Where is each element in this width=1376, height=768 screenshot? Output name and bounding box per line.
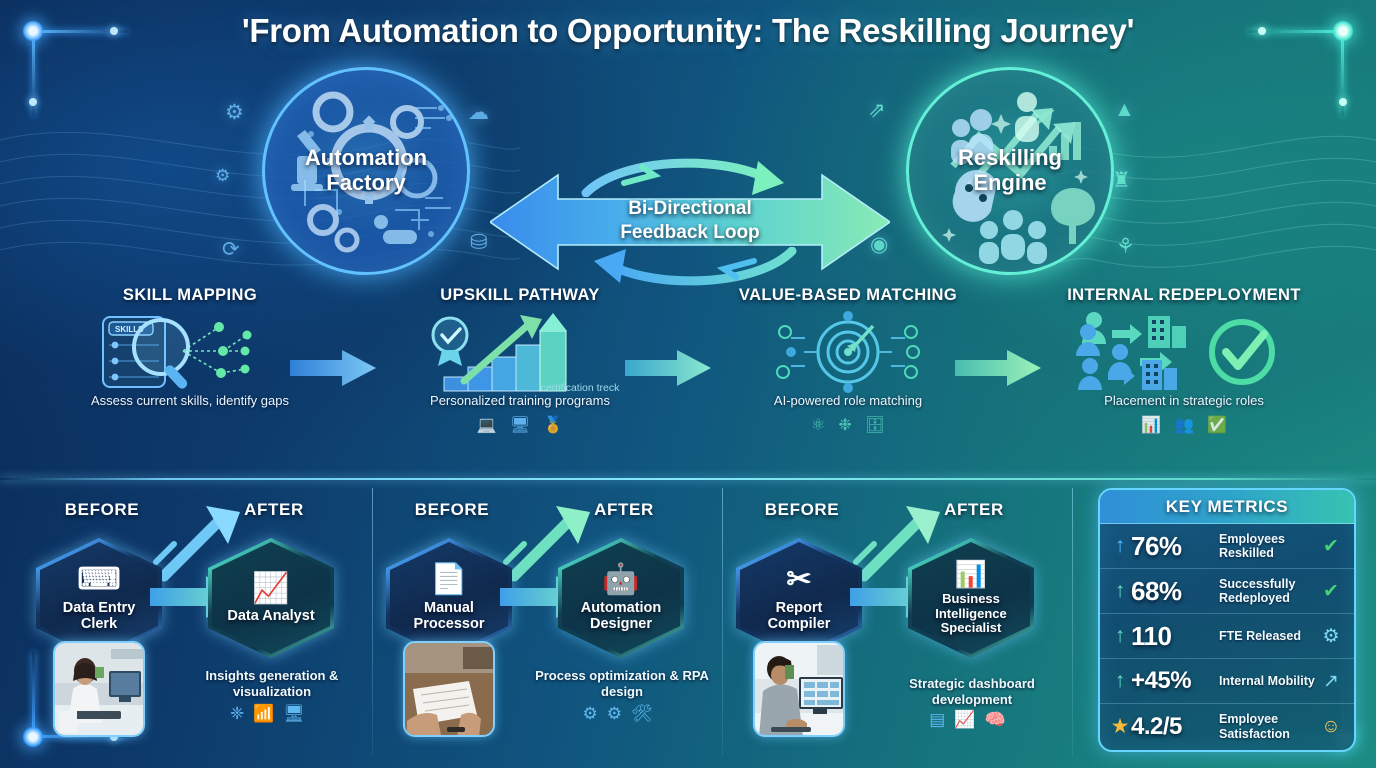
gear-network-icon: ⚙ <box>225 100 244 125</box>
process-flow-section: SKILL MAPPING SKILLS Assess <box>0 286 1376 476</box>
man-at-desk-with-monitor-photo <box>753 641 845 737</box>
check-circle-icon: ✅ <box>1207 415 1227 435</box>
metric-row[interactable]: ↑ 110 FTE Released ⚙ <box>1100 614 1354 659</box>
feedback-line1: Bi-Directional <box>490 197 890 221</box>
automation-factory-line1: Automation <box>305 146 427 171</box>
hands-with-paper-documents-photo <box>403 641 495 737</box>
bidirectional-feedback-label: Bi-Directional Feedback Loop <box>490 197 890 245</box>
before-role-hex[interactable]: 📄 Manual Processor <box>386 538 512 658</box>
gear-arrow-up-icon: ⚙ <box>1317 625 1345 648</box>
ai-chip-icon: ⚛ <box>811 415 825 435</box>
metric-row[interactable]: ↑ +45% Internal Mobility ↗ <box>1100 659 1354 704</box>
gear-icon: ⚙ <box>582 704 606 723</box>
stage-icon-row: 💻 🖥 🏅 <box>370 415 670 435</box>
page-title: 'From Automation to Opportunity: The Res… <box>0 12 1376 50</box>
metric-row[interactable]: ↑ 76% Employees Reskilled ✔ <box>1100 524 1354 569</box>
robot-flowchart-icon: 🤖 <box>602 563 639 597</box>
infographic-canvas: 'From Automation to Opportunity: The Res… <box>0 0 1376 768</box>
panel-divider-3 <box>1072 488 1073 756</box>
key-metrics-panel: KEY METRICS ↑ 76% Employees Reskilled ✔ … <box>1098 488 1356 752</box>
woman-at-desk-typing-photo <box>53 641 145 737</box>
hero-section: Automation Factory <box>0 62 1376 280</box>
ai-target-network-art <box>698 311 998 393</box>
sitemap-icon: ⛁ <box>470 230 488 255</box>
reskilling-engine-label: Reskilling Engine <box>958 146 1062 195</box>
certificate-badge-icon: 🏅 <box>543 415 563 435</box>
section-divider-horizontal <box>0 478 1376 480</box>
process-stage-internal-redeployment[interactable]: INTERNAL REDEPLOYMENT <box>1034 286 1334 435</box>
stage-description: Placement in strategic roles <box>1034 393 1334 409</box>
growth-chart-icon: 📊 <box>1141 415 1161 435</box>
metric-value: 110 <box>1131 621 1219 652</box>
before-role-label: Manual Processor <box>390 600 508 632</box>
scissors-paper-icon: ✂ <box>786 563 811 597</box>
after-icon-row: ❈📶🖥 <box>182 704 362 724</box>
node-graph-icon: ❈ <box>230 704 253 723</box>
up-arrow-icon: ↑ <box>1109 534 1131 558</box>
handshake-icon: ♜ <box>1112 168 1131 193</box>
before-role-label: Report Compiler <box>740 600 858 632</box>
people-to-building-checkmark-art <box>1034 311 1334 393</box>
metric-value: 4.2/5 <box>1131 713 1219 741</box>
stage-title: SKILL MAPPING <box>40 286 340 305</box>
up-arrow-icon: ↑ <box>1109 579 1131 603</box>
dashboard-monitor-icon: 🖥 <box>283 704 314 723</box>
chart-rise-icon: 📈 <box>954 710 984 729</box>
person-rising-icon: ↗ <box>1317 670 1345 693</box>
refresh-cycle-icon: ⟳ <box>222 237 240 262</box>
data-table-icon: ▤ <box>929 710 954 729</box>
transformation-panel-3: BEFORE AFTER ✂ Report Compiler 📊 Busines… <box>722 486 1072 764</box>
tools-wrench-screwdriver-icon: 🛠 <box>631 704 662 723</box>
reskilling-engine-circle: Reskilling Engine <box>906 67 1114 275</box>
smiley-face-icon: ☺ <box>1317 716 1345 738</box>
after-role-label: Data Analyst <box>221 608 320 624</box>
key-metrics-title: KEY METRICS <box>1100 490 1354 524</box>
growth-chart-icon: 📶 <box>253 704 283 723</box>
bidirectional-feedback-arrow: Bi-Directional Feedback Loop <box>490 165 890 280</box>
after-description: Strategic dashboard development <box>882 676 1062 707</box>
metric-label: Internal Mobility <box>1219 674 1317 688</box>
metric-label: Employee Satisfaction <box>1219 712 1317 741</box>
automation-factory-label: Automation Factory <box>305 146 427 195</box>
after-role-hex[interactable]: 📈 Data Analyst <box>208 538 334 658</box>
metric-value: 68% <box>1131 576 1219 607</box>
metric-row[interactable]: ↑ 68% Successfully Redeployed ✔ <box>1100 569 1354 614</box>
star-icon: ★ <box>1109 714 1131 739</box>
before-role-hex[interactable]: ⌨ Data Entry Clerk <box>36 538 162 658</box>
after-role-hex[interactable]: 🤖 Automation Designer <box>558 538 684 658</box>
metric-value: 76% <box>1131 531 1219 562</box>
metric-label: Employees Reskilled <box>1219 532 1317 561</box>
metric-row[interactable]: ★ 4.2/5 Employee Satisfaction ☺ <box>1100 704 1354 749</box>
metric-label: FTE Released <box>1219 629 1317 643</box>
cloud-gear-icon: ☁ <box>468 100 489 125</box>
transformation-panel-2: BEFORE AFTER 📄 Manual Processor 🤖 Automa… <box>372 486 722 764</box>
check-circle-green-icon: ✔ <box>1317 535 1345 558</box>
certification-track-caption: certification treck <box>520 382 640 394</box>
database-search-icon: 🗄 <box>865 415 885 435</box>
process-chevron-3 <box>955 348 1041 388</box>
reskilling-engine-line1: Reskilling <box>958 146 1062 171</box>
stage-description: Personalized training programs <box>370 393 670 409</box>
people-growth-icon: ⇗ <box>868 98 886 123</box>
dashboard-screen-icon: 📊 <box>955 560 987 589</box>
automation-factory-circle: Automation Factory <box>262 67 470 275</box>
process-stage-value-based-matching[interactable]: VALUE-BASED MATCHING <box>698 286 998 435</box>
after-icon-row: ▤📈🧠 <box>882 710 1062 730</box>
after-description: Insights generation & visualization <box>182 668 362 699</box>
up-arrow-icon: ↑ <box>1109 624 1131 648</box>
after-role-hex[interactable]: 📊 Business Intelligence Specialist <box>908 538 1034 658</box>
bar-chart-rise-icon: ▲ <box>1114 98 1135 122</box>
stage-description: AI-powered role matching <box>698 393 998 409</box>
after-role-label: Automation Designer <box>562 600 680 632</box>
automation-factory-line2: Factory <box>305 171 427 196</box>
transformation-panel-1: BEFORE AFTER ⌨ Data Entry Clerk 📈 Data A… <box>22 486 372 764</box>
metric-label: Successfully Redeployed <box>1219 577 1317 606</box>
gears-pair-icon: ⚙ <box>607 704 631 723</box>
bar-chart-magnifier-icon: 📈 <box>252 572 289 606</box>
before-role-hex[interactable]: ✂ Report Compiler <box>736 538 862 658</box>
brain-head-icon: 🧠 <box>985 710 1015 729</box>
stage-title: INTERNAL REDEPLOYMENT <box>1034 286 1334 305</box>
up-arrow-icon: ↑ <box>1109 669 1131 693</box>
after-icon-row: ⚙⚙🛠 <box>532 704 712 724</box>
document-stamp-icon: 📄 <box>430 563 467 597</box>
reskilling-engine-line2: Engine <box>958 171 1062 196</box>
stage-description: Assess current skills, identify gaps <box>40 393 340 409</box>
node-cluster-icon: ❉ <box>838 415 851 435</box>
tree-icon: ⚘ <box>1116 234 1135 259</box>
team-group-icon: 👥 <box>1174 415 1194 435</box>
check-circle-green-icon: ✔ <box>1317 580 1345 603</box>
keyboard-icon: ⌨ <box>77 563 120 597</box>
before-role-label: Data Entry Clerk <box>40 600 158 632</box>
monitor-chart-icon: 🖥 <box>510 415 530 435</box>
process-chevron-1 <box>290 348 376 388</box>
laptop-training-icon: 💻 <box>477 415 497 435</box>
stage-icon-row: 📊 👥 ✅ <box>1034 415 1334 435</box>
after-role-label: Business Intelligence Specialist <box>912 592 1030 636</box>
metric-value: +45% <box>1131 667 1219 695</box>
stage-icon-row: ⚛ ❉ 🗄 <box>698 415 998 435</box>
after-description: Process optimization & RPA design <box>532 668 712 699</box>
feedback-line2: Feedback Loop <box>490 221 890 245</box>
gear-small-icon: ⚙ <box>215 166 230 186</box>
